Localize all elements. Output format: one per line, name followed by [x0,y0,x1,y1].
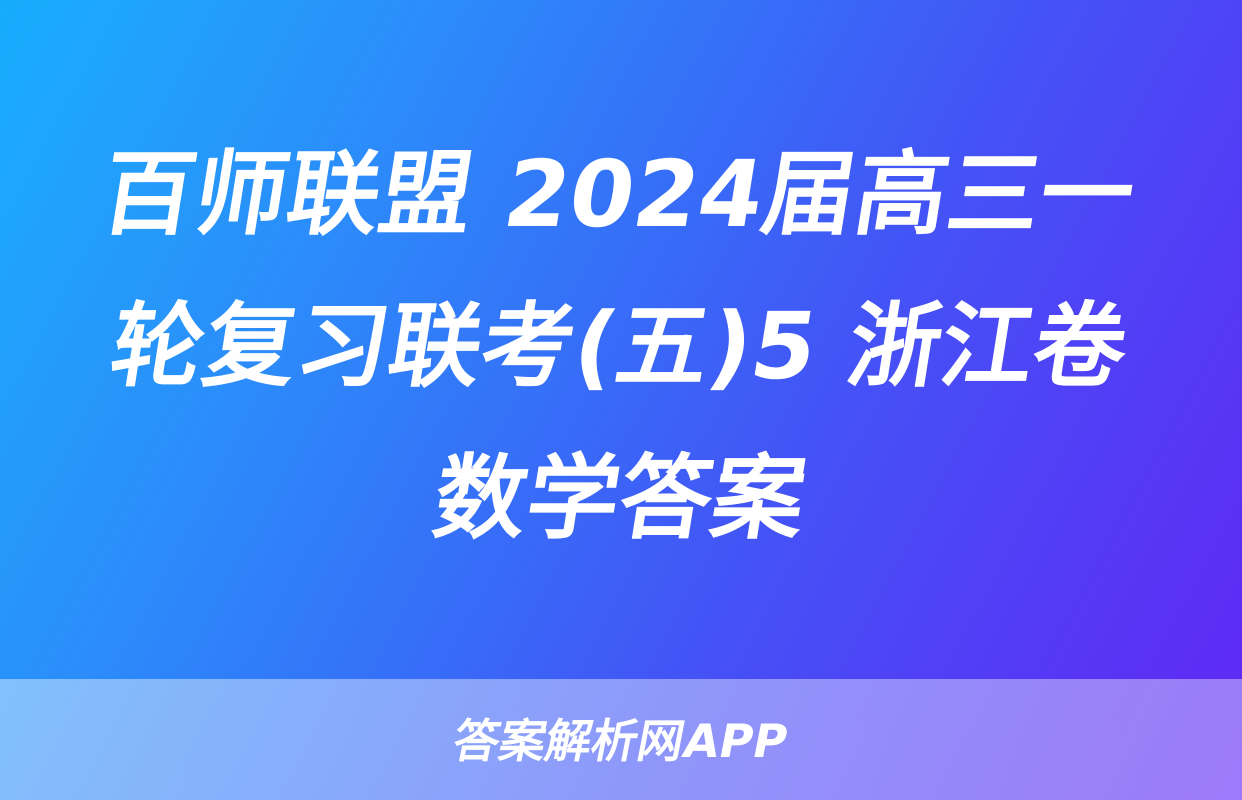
headline-block: 百师联盟 2024届高三一 轮复习联考(五)5 浙江卷 数学答案 [0,0,1242,679]
headline-line-3: 数学答案 [423,423,817,575]
watermark-bar: 答案解析网APP [0,679,1242,800]
poster-canvas: 百师联盟 2024届高三一 轮复习联考(五)5 浙江卷 数学答案 答案解析网AP… [0,0,1242,800]
headline-line-2: 轮复习联考(五)5 浙江卷 [100,271,1139,423]
headline-line-1: 百师联盟 2024届高三一 [91,119,1146,271]
watermark-app-label: 答案解析网APP [450,718,792,764]
